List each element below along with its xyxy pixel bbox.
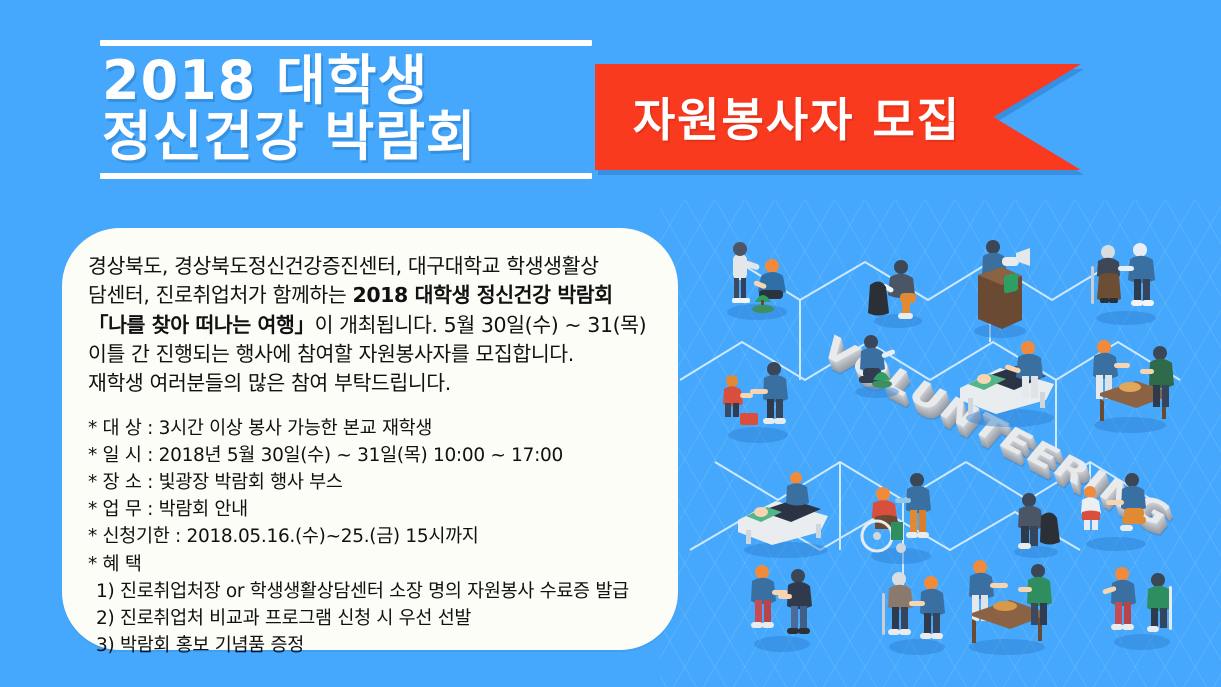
title-rule-bottom	[100, 173, 592, 179]
handshake-pair-scene	[740, 560, 824, 654]
recruitment-ribbon: 자원봉사자 모집	[595, 64, 1081, 170]
intro-line-2: 담센터, 진로취업처가 함께하는 2018 대학생 정신건강 박람회	[88, 281, 652, 310]
details-list: * 대 상 : 3시간 이상 봉사 가능한 본교 재학생 * 일 시 : 201…	[88, 415, 652, 578]
intro-line-2a: 담센터, 진로취업처가 함께하는	[88, 283, 352, 307]
benefits-list: 1) 진로취업처장 or 학생생활상담센터 소장 명의 자원봉사 수료증 발급 …	[88, 578, 652, 660]
ribbon-label: 자원봉사자 모집	[595, 64, 999, 170]
title-rule-top	[100, 40, 592, 46]
megaphone-podium-scene	[960, 235, 1038, 340]
food-serving-table-scene	[1078, 335, 1182, 435]
detail-benefits-heading: * 혜 택	[88, 551, 652, 578]
detail-datetime: * 일 시 : 2018년 5월 30일(수) ~ 31일(목) 10:00 ~…	[88, 442, 652, 469]
detail-location: * 장 소 : 빛광장 박람회 행사 부스	[88, 469, 652, 496]
info-card: 경상북도, 경상북도정신건강증진센터, 대구대학교 학생생활상 담센터, 진로취…	[62, 228, 678, 650]
litter-pickup-scene	[862, 255, 932, 329]
intro-event-name: 2018 대학생 정신건강 박람회	[352, 283, 612, 307]
hospital-bed-care-2-scene	[730, 470, 842, 560]
poster-title-block: 2018 대학생 정신건강 박람회	[100, 40, 600, 179]
intro-line-3: 「나를 찾아 떠나는 여행」이 개최됩니다. 5월 30일(수) ~ 31(목)	[88, 311, 652, 340]
elderly-cane-support-scene	[873, 565, 961, 657]
planting-tree-scene	[715, 238, 807, 322]
child-helper-scene	[1070, 470, 1162, 552]
hospital-bed-care-scene	[948, 332, 1068, 428]
detail-duty: * 업 무 : 박람회 안내	[88, 496, 652, 523]
poster-canvas: VOLUNTEERING	[0, 0, 1221, 687]
intro-line-3b: 이 개최됩니다. 5월 30일(수) ~ 31(목)	[315, 313, 647, 337]
benefit-item-1: 1) 진로취업처장 or 학생생활상담센터 소장 명의 자원봉사 수료증 발급	[88, 578, 652, 605]
soup-kitchen-scene	[952, 555, 1062, 657]
title-line-1: 2018 대학생	[102, 53, 600, 109]
elderly-walking-assist-scene	[1080, 240, 1172, 326]
trash-bag-carry-scene	[1003, 488, 1069, 560]
wheelchair-assist-scene	[855, 470, 947, 566]
child-donation-scene	[712, 355, 804, 445]
intro-line-4: 이틀 간 진행되는 행사에 참여할 자원봉사자를 모집합니다.	[88, 340, 652, 369]
intro-line-5: 재학생 여러분들의 많은 참여 부탁드립니다.	[88, 369, 652, 398]
benefit-item-2: 2) 진로취업처 비교과 프로그램 신청 시 우선 선발	[88, 605, 652, 632]
detail-target: * 대 상 : 3시간 이상 봉사 가능한 본교 재학생	[88, 415, 652, 442]
poster-title: 2018 대학생 정신건강 박람회	[100, 51, 600, 169]
detail-deadline: * 신청기한 : 2018.05.16.(수)~25.(금) 15시까지	[88, 523, 652, 550]
intro-paragraph: 경상북도, 경상북도정신건강증진센터, 대구대학교 학생생활상 담센터, 진로취…	[88, 252, 652, 399]
crutches-assist-scene	[1100, 560, 1184, 652]
kneeling-gardener-scene	[845, 330, 909, 400]
benefit-item-3: 3) 박람회 홍보 기념품 증정	[88, 632, 652, 659]
title-line-2: 정신건강 박람회	[102, 109, 600, 165]
intro-theme-title: 「나를 찾아 떠나는 여행」	[88, 313, 315, 337]
intro-line-1: 경상북도, 경상북도정신건강증진센터, 대구대학교 학생생활상	[88, 252, 652, 281]
